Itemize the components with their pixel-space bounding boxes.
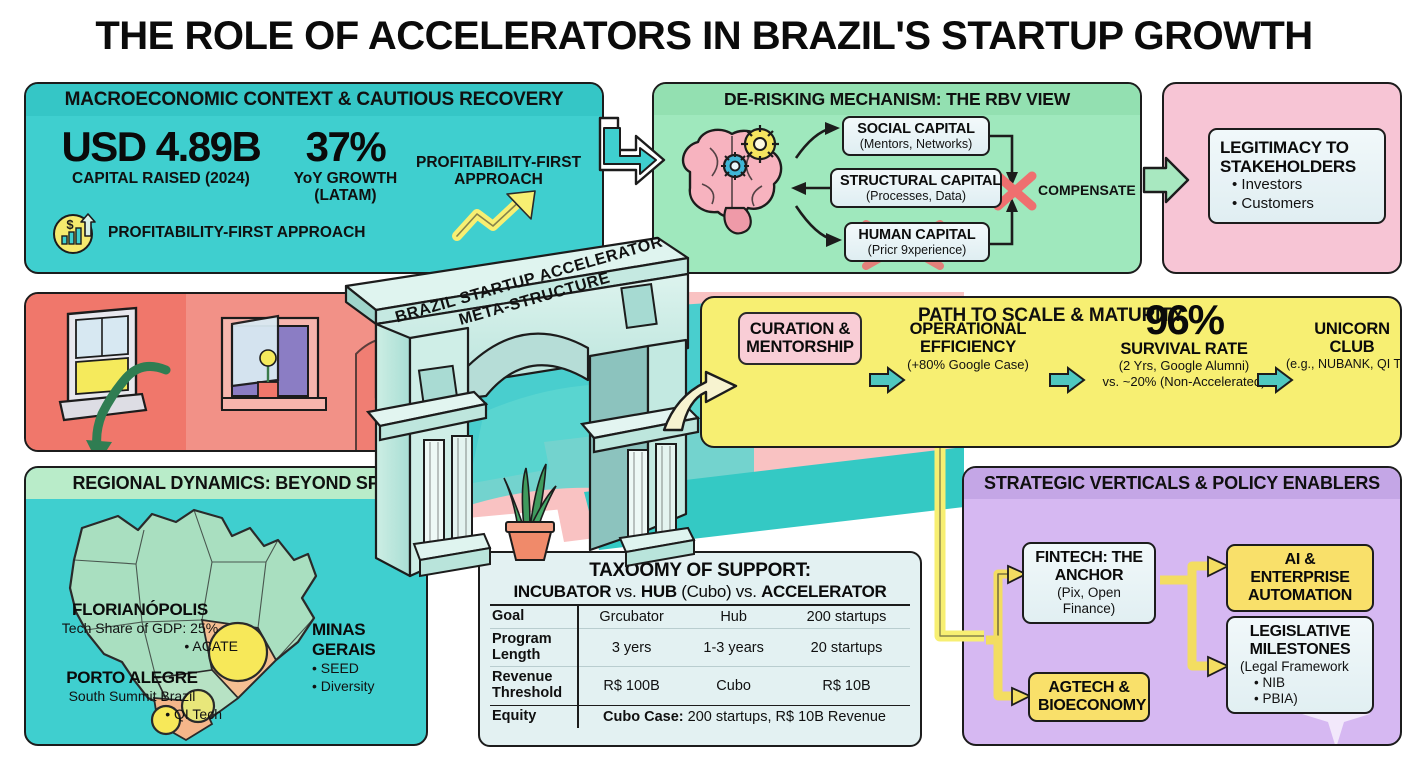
capital-box-structural: STRUCTURAL CAPITAL (Processes, Data) — [830, 168, 1002, 208]
macro-footer-label: PROFITABILITY-FIRST APPROACH — [108, 224, 365, 242]
taxonomy-table: Goal Grcubator Hub 200 startups Program … — [490, 604, 910, 728]
arrow-icon — [1050, 368, 1084, 392]
panel-rbv: DE-RISKING MECHANISM: THE RBV VIEW — [652, 82, 1142, 274]
table-row: Goal Grcubator Hub 200 startups — [490, 605, 910, 629]
region-sub: • Diversity — [312, 678, 428, 696]
stat-yoy-value: 37% — [290, 126, 401, 168]
capital-sub: (Pricr 9xperience) — [854, 243, 980, 257]
region-name: PORTO ALEGRE — [42, 668, 222, 688]
region-name: MINAS GERAIS — [312, 620, 428, 660]
sv-sub: (Pix, Open Finance) — [1032, 585, 1146, 617]
legitimacy-item: • Investors — [1232, 176, 1374, 195]
sv-box-legislative: LEGISLATIVE MILESTONES (Legal Framework … — [1226, 616, 1374, 714]
capital-sub: (Processes, Data) — [840, 189, 992, 203]
profit-chart-icon: $ — [52, 210, 98, 256]
capital-title: HUMAN CAPITAL — [854, 227, 980, 243]
cell: 3 yers — [578, 629, 684, 667]
sv-title: AGTECH & BIOECONOMY — [1038, 679, 1140, 715]
sv-box-fintech: FINTECH: THE ANCHOR (Pix, Open Finance) — [1022, 542, 1156, 624]
cell-footer: Cubo Case: 200 startups, R$ 10B Revenue — [578, 705, 910, 728]
cell: Cubo — [684, 667, 783, 705]
capital-sub: (Mentors, Networks) — [852, 137, 980, 151]
red-cross-icon — [998, 176, 1032, 206]
stat-capital-value: USD 4.89B — [40, 126, 282, 168]
sv-title: AI & ENTERPRISE AUTOMATION — [1236, 551, 1364, 605]
macro-header: MACROECONOMIC CONTEXT & CAUTIOUS RECOVER… — [26, 84, 602, 116]
region-sub: • QI Tech — [42, 706, 222, 724]
compensate-label: COMPENSATE — [1038, 182, 1136, 198]
cell: 20 startups — [783, 629, 910, 667]
window-icon — [222, 316, 326, 410]
svg-text:$: $ — [66, 217, 74, 232]
capital-box-social: SOCIAL CAPITAL (Mentors, Networks) — [842, 116, 990, 156]
cell: R$ 10B — [783, 667, 910, 705]
sv-box-ai-enterprise: AI & ENTERPRISE AUTOMATION — [1226, 544, 1374, 612]
panel-path-to-scale: PATH TO SCALE & MATURITY CURATION & MENT… — [700, 296, 1402, 448]
legitimacy-title: LEGITIMACY TO STAKEHOLDERS — [1220, 138, 1374, 176]
region-sub: Tech Share of GDP: 25% — [42, 620, 238, 638]
region-name: FLORIANÓPOLIS — [42, 600, 238, 620]
region-sub: • ACATE — [42, 638, 238, 656]
infographic-canvas: THE ROLE OF ACCELERATORS IN BRAZIL'S STA… — [0, 0, 1408, 768]
legitimacy-box: LEGITIMACY TO STAKEHOLDERS • Investors •… — [1208, 128, 1386, 224]
table-row: Program Length 3 yers 1-3 years 20 start… — [490, 629, 910, 667]
legitimacy-item: • Customers — [1232, 195, 1374, 214]
taxonomy-col-accelerator: ACCELERATOR — [761, 582, 886, 601]
cell: Grcubator — [578, 605, 684, 629]
row-header: Revenue Threshold — [490, 667, 578, 705]
row-header: Goal — [490, 605, 578, 629]
capital-title: STRUCTURAL CAPITAL — [840, 173, 992, 189]
capital-title: SOCIAL CAPITAL — [852, 121, 980, 137]
cell: R$ 100B — [578, 667, 684, 705]
stat-profitability-label: PROFITABILITY-FIRST APPROACH — [409, 154, 588, 188]
panel-strategic-verticals: STRATEGIC VERTICALS & POLICY ENABLERS FI… — [962, 466, 1402, 746]
region-label-porto-alegre: PORTO ALEGRE South Summit Brazil • QI Te… — [42, 668, 222, 723]
stat-yoy-label: YoY GROWTH (LATAM) — [290, 170, 401, 204]
stat-yoy-growth: 37% YoY GROWTH (LATAM) — [290, 126, 401, 204]
region-sub: South Summit Brazil — [42, 688, 222, 706]
sv-sub: (Legal Framework — [1236, 659, 1364, 675]
page-title: THE ROLE OF ACCELERATORS IN BRAZIL'S STA… — [0, 14, 1408, 59]
cell: Hub — [684, 605, 783, 629]
stat-capital-raised: USD 4.89B CAPITAL RAISED (2024) — [40, 126, 282, 187]
panel-legitimacy: LEGITIMACY TO STAKEHOLDERS • Investors •… — [1162, 82, 1402, 274]
cell: 200 startups — [783, 605, 910, 629]
sv-box-agtech: AGTECH & BIOECONOMY — [1028, 672, 1150, 722]
arrow-icon — [870, 368, 904, 392]
table-row: Revenue Threshold R$ 100B Cubo R$ 10B — [490, 667, 910, 705]
cell: 1-3 years — [684, 629, 783, 667]
arch-illustration — [338, 228, 710, 588]
stat-capital-label: CAPITAL RAISED (2024) — [40, 170, 282, 187]
table-row: Equity Cubo Case: 200 startups, R$ 10B R… — [490, 705, 910, 728]
sv-item: • NIB — [1236, 675, 1364, 691]
path-arrows — [702, 298, 1402, 448]
row-header: Equity — [490, 705, 578, 728]
capital-box-human: HUMAN CAPITAL (Pricr 9xperience) — [844, 222, 990, 262]
region-label-florianopolis: FLORIANÓPOLIS Tech Share of GDP: 25% • A… — [42, 600, 238, 655]
footer-text: 200 startups, R$ 10B Revenue — [684, 709, 886, 725]
stat-profitability: PROFITABILITY-FIRST APPROACH — [409, 126, 588, 188]
sv-title: LEGISLATIVE MILESTONES — [1236, 623, 1364, 659]
arch-monument: BRAZIL STARTUP ACCELERATOR META-STRUCTUR… — [338, 228, 710, 588]
row-header: Program Length — [490, 629, 578, 667]
sv-item: • PBIA) — [1236, 691, 1364, 707]
arrow-icon — [1258, 368, 1292, 392]
region-label-minas-gerais: MINAS GERAIS • SEED • Diversity — [312, 620, 428, 695]
sv-title: FINTECH: THE ANCHOR — [1032, 549, 1146, 585]
region-sub: • SEED — [312, 660, 428, 678]
footer-bold: Cubo Case: — [603, 709, 684, 725]
